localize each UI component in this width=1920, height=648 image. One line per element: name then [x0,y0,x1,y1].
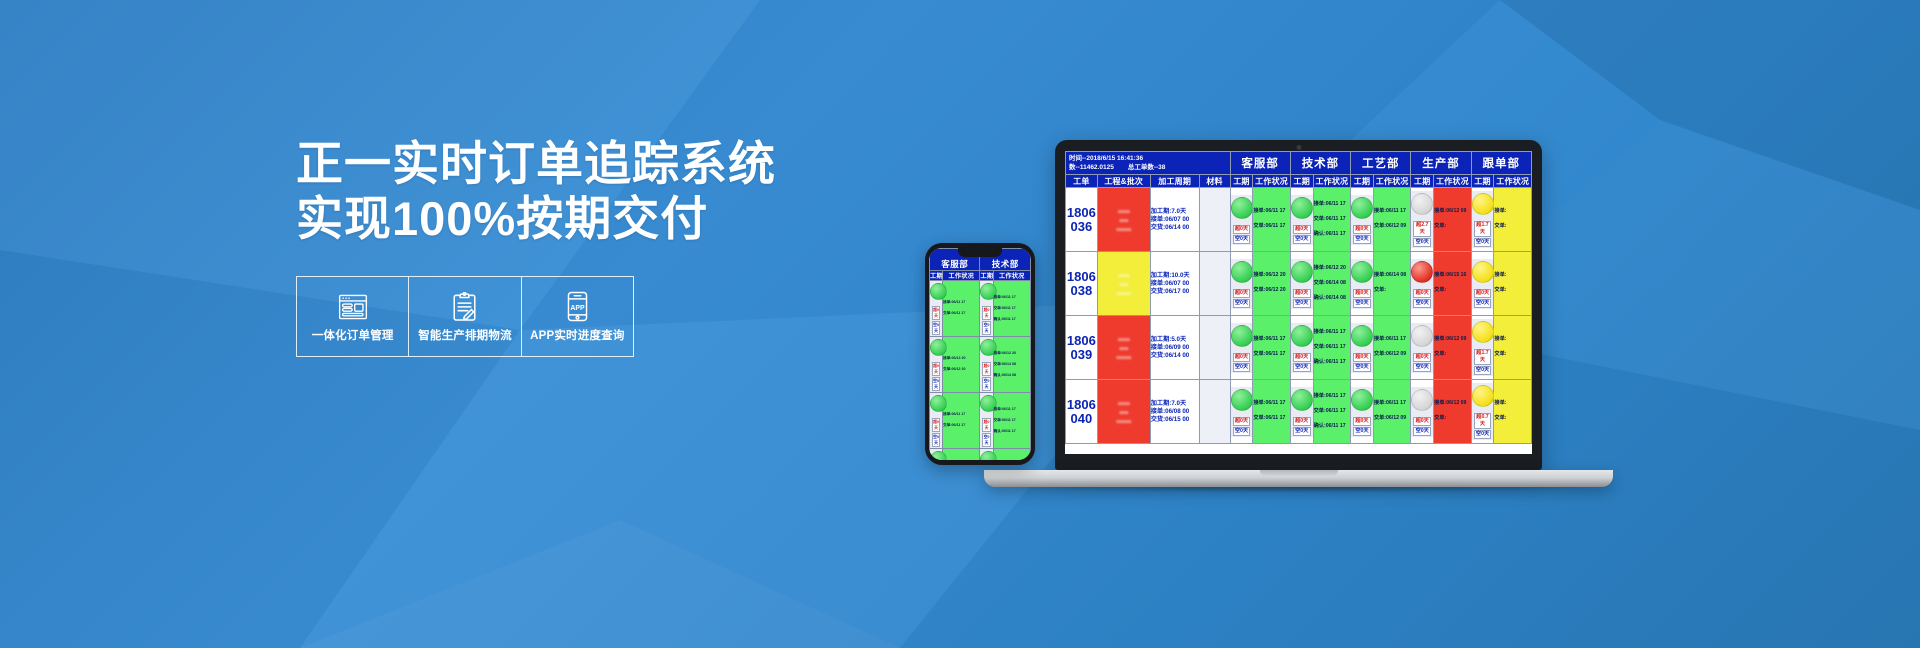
dept-status-cell-4[interactable]: 接单:交单: [1494,252,1532,316]
mobile-subheader-row: 工期工作状况工期工作状况 [930,271,1031,281]
idle-days-tag: 空0天 [1233,299,1251,308]
mobile-order-tracking-dashboard: 客服部技术部工期工作状况工期工作状况 超0天空0天接单:06/11 17交单:0… [929,248,1031,460]
laptop-mockup: 时间--2018/6/15 16:41:36数--11462.0125总工单数-… [1055,140,1613,493]
laptop-screen[interactable]: 时间--2018/6/15 16:41:36数--11462.0125总工单数-… [1065,151,1532,454]
dashboard-total: 总工单数--38 [1128,163,1166,172]
cycle-cell: 加工期:7.0天接单:06/07 00交货:06/14 00 [1150,188,1199,252]
cycle-duration: 加工期:5.0天 [1151,336,1199,344]
status-delivered: 交单:06/11 17 [1253,351,1289,359]
dept-status-cell-2[interactable]: 接单:06/11 17交单:06/12 09 [1373,316,1410,380]
mobile-duration-cell-0[interactable]: 超0天空0天 [930,281,943,337]
material-cell [1199,188,1230,252]
work-order-top: 1806 [1067,205,1096,220]
project-batch-cell: ■■■■■■■■■■■■ [1097,188,1150,252]
dept-duration-cell-0[interactable]: 超0天空0天 [1230,252,1253,316]
dashboard-time: 时间--2018/6/15 16:41:36 [1069,154,1227,163]
table-row[interactable]: 1806038■■■■■■■■■■■■加工期:10.0天接单:06/07 00交… [1066,252,1532,316]
status-delivered: 交单:06/12 09 [1374,351,1410,359]
status-lamp-green [1351,325,1373,347]
dept-duration-cell-1[interactable]: 超0天空0天 [1290,188,1313,252]
status-delivered: 交单: [1494,415,1531,423]
status-lamp-red [1411,261,1433,283]
status-received: 接单:06/11 17 [994,407,1030,413]
status-received: 接单: [1494,208,1531,216]
project-batch-cell: ■■■■■■■■■■■■ [1097,380,1150,444]
dept-duration-cell-4[interactable]: 超0.7天空0天 [1471,380,1494,444]
mobile-status-cell-0[interactable]: 接单:06/12 20交单:06/12 20 [943,337,980,393]
mobile-status-cell-0[interactable]: 接单:06/11 17交单:06/11 17 [943,393,980,449]
feature-label: 一体化订单管理 [312,327,394,343]
mobile-col-header-1-0: 工期 [980,271,993,281]
mobile-duration-cell-1[interactable]: 超0天空0天 [980,393,993,449]
over-days-tag: 超0天 [932,306,940,320]
status-delivered: 交单: [1434,223,1470,231]
status-confirmed: 确认:06/14 08 [1314,295,1350,303]
col-header-2: 加工周期 [1150,175,1199,188]
mobile-dashboard-body: 超0天空0天接单:06/11 17交单:06/11 17超0天空0天接单:06/… [930,281,1031,461]
status-lamp-green [1291,389,1313,411]
project-batch-cell: ■■■■■■■■■■■■ [1097,252,1150,316]
work-order-cell: 1806038 [1066,252,1098,316]
mobile-dashboard-table: 客服部技术部工期工作状况工期工作状况 超0天空0天接单:06/11 17交单:0… [929,248,1031,460]
mobile-table-row[interactable]: 超0天空0天接单:06/12 20交单:06/12 20超0天空0天接单:06/… [930,337,1031,393]
mobile-duration-cell-0[interactable]: 超0天空0天 [930,393,943,449]
dept-status-cell-0[interactable]: 接单:06/11 17交单:06/11 17 [1253,188,1290,252]
status-lamp-gray [1411,389,1433,411]
status-confirmed: 确认:06/11 17 [1314,423,1350,431]
status-lamp-green [1231,325,1253,347]
idle-days-tag: 空0天 [1233,363,1251,372]
dept-duration-cell-2[interactable]: 超0天空0天 [1351,252,1374,316]
idle-days-tag: 空0天 [1413,299,1431,308]
status-received: 接单:06/11 17 [1314,329,1350,337]
dept-duration-cell-3[interactable]: 超0天空0天 [1411,316,1434,380]
phone-mockup: 客服部技术部工期工作状况工期工作状况 超0天空0天接单:06/11 17交单:0… [925,243,1035,465]
dept-status-cell-1[interactable]: 接单:06/11 17交单:06/11 17确认:06/11 17 [1313,316,1350,380]
work-order-bottom: 039 [1071,347,1093,362]
dept-duration-cell-2[interactable]: 超0天空0天 [1351,380,1374,444]
idle-days-tag: 空0天 [1353,235,1371,244]
idle-days-tag: 空0天 [1353,299,1371,308]
idle-days-tag: 空0天 [982,321,990,335]
dept-duration-cell-0[interactable]: 超0天空0天 [1230,380,1253,444]
dept-status-cell-1[interactable]: 接单:06/12 20交单:06/14 08确认:06/14 08 [1313,252,1350,316]
dept-status-cell-3[interactable]: 接单:06/12 09交单: [1434,188,1471,252]
cycle-delivery: 交货:06/17 00 [1151,288,1199,296]
mobile-table-row[interactable]: 超0天空0天接单:06/11 17交单:06/11 17超0天空0天接单:06/… [930,393,1031,449]
phone-screen[interactable]: 客服部技术部工期工作状况工期工作状况 超0天空0天接单:06/11 17交单:0… [929,248,1031,460]
status-lamp-green [1231,261,1253,283]
over-days-tag: 超0天 [1233,353,1251,362]
over-days-tag: 超0天 [932,362,940,376]
dept-duration-cell-1[interactable]: 超0天空0天 [1290,316,1313,380]
over-days-tag: 超1.7天 [1474,221,1492,237]
col-header-0-0: 工期 [1230,175,1253,188]
over-days-tag: 超0天 [1233,417,1251,426]
dashboard-body: 1806036■■■■■■■■■■■■加工期:7.0天接单:06/07 00交货… [1066,188,1532,444]
status-lamp-green [930,395,947,412]
dept-status-cell-3[interactable]: 接单:06/12 09交单: [1434,380,1471,444]
idle-days-tag: 空0天 [1353,363,1371,372]
status-delivered: 交单:06/11 17 [994,306,1030,312]
mobile-duration-cell-1[interactable]: 超0天空0天 [980,281,993,337]
status-lamp-yellow [1472,193,1494,215]
mobile-duration-cell-0[interactable]: 超0天空0天 [930,337,943,393]
feature-list: 一体化订单管理 智能生产排期物流 [296,276,634,357]
status-confirmed: 确认:06/14 08 [994,373,1030,379]
mobile-duration-cell-1[interactable]: 超0天空4天 [980,449,993,461]
dept-status-cell-2[interactable]: 接单:06/11 17交单:06/12 09 [1373,188,1410,252]
dept-header-4: 跟单部 [1471,152,1531,175]
status-received: 接单:06/12 20 [943,356,979,362]
status-delivered: 交单:06/12 09 [1374,223,1410,231]
status-lamp-gray [1411,193,1433,215]
status-received: 接单:06/11 17 [1374,208,1410,216]
laptop-base [984,470,1613,487]
idle-days-tag: 空0天 [1474,430,1492,439]
status-received: 接单:06/11 17 [1253,336,1289,344]
status-received: 接单:06/11 17 [1253,208,1289,216]
status-received: 接单:06/12 09 [1434,208,1470,216]
material-cell [1199,316,1230,380]
idle-days-tag: 空0天 [1293,235,1311,244]
status-lamp-green [1351,389,1373,411]
cycle-duration: 加工期:10.0天 [1151,272,1199,280]
over-days-tag: 超0天 [1413,289,1431,298]
mobile-col-header-0-0: 工期 [930,271,943,281]
project-name-masked: ■■■■■■■■■■■■ [1098,396,1150,427]
col-header-2-1: 工作状况 [1373,175,1410,188]
status-delivered: 交单:06/11 17 [1314,408,1350,416]
cycle-delivery: 交货:06/15 00 [1151,416,1199,424]
cycle-cell: 加工期:5.0天接单:06/09 00交货:06/14 00 [1150,316,1199,380]
mobile-status-cell-1[interactable]: 接单:06/11 17交单:06/11 17确认:06/11 17 [993,449,1030,461]
work-order-top: 1806 [1067,269,1096,284]
status-received: 接单: [1494,336,1531,344]
mobile-table-row[interactable]: 超0天空0天接单:06/11 17交单:06/11 17超0天空4天接单:06/… [930,449,1031,461]
status-delivered: 交单:06/14 08 [1314,280,1350,288]
clipboard-pen-icon [451,292,478,322]
cycle-cell: 加工期:7.0天接单:06/08 00交货:06/15 00 [1150,380,1199,444]
status-delivered: 交单: [1494,287,1531,295]
status-delivered: 交单: [1434,351,1470,359]
status-received: 接单:06/11 17 [1314,201,1350,209]
col-header-3: 材料 [1199,175,1230,188]
cycle-received: 接单:06/07 00 [1151,280,1199,288]
col-header-1-1: 工作状况 [1313,175,1350,188]
headline-line-1: 正一实时订单追踪系统 [296,136,916,191]
status-received: 接单:06/11 17 [994,295,1030,301]
cycle-received: 接单:06/07 00 [1151,216,1199,224]
status-delivered: 交单:06/11 17 [1253,415,1289,423]
col-header-4-1: 工作状况 [1494,175,1532,188]
status-received: 接单: [1494,272,1531,280]
over-days-tag: 超0天 [982,306,990,320]
work-order-bottom: 040 [1071,411,1093,426]
dashboard-table: 时间--2018/6/15 16:41:36数--11462.0125总工单数-… [1065,151,1532,444]
app-badge-text: APP [570,305,585,312]
feature-item-production-scheduling[interactable]: 智能生产排期物流 [409,277,521,356]
dept-duration-cell-2[interactable]: 超0天空0天 [1351,316,1374,380]
feature-item-app-progress-query[interactable]: APP APP实时进度查询 [522,277,633,356]
status-delivered: 交单: [1434,415,1470,423]
status-delivered: 交单:06/11 17 [1314,344,1350,352]
project-batch-cell: ■■■■■■■■■■■■ [1097,316,1150,380]
phone-app-icon: APP [567,292,588,322]
dept-duration-cell-3[interactable]: 超0天空0天 [1411,252,1434,316]
mobile-table-row[interactable]: 超0天空0天接单:06/11 17交单:06/11 17超0天空0天接单:06/… [930,281,1031,337]
dept-header-1: 技术部 [1290,152,1350,175]
mobile-status-cell-1[interactable]: 接单:06/11 17交单:06/11 17确认:06/11 17 [993,393,1030,449]
work-order-top: 1806 [1067,397,1096,412]
work-order-cell: 1806040 [1066,380,1098,444]
cycle-received: 接单:06/09 00 [1151,344,1199,352]
cycle-duration: 加工期:7.0天 [1151,400,1199,408]
dept-status-cell-4[interactable]: 接单:交单: [1494,188,1532,252]
col-header-2-0: 工期 [1351,175,1374,188]
status-lamp-green [1231,197,1253,219]
status-delivered: 交单:06/11 17 [943,311,979,317]
status-lamp-green [1351,261,1373,283]
status-confirmed: 确认:06/11 17 [1314,359,1350,367]
status-delivered: 交单: [1434,287,1470,295]
project-name-masked: ■■■■■■■■■■■■ [1098,332,1150,363]
over-days-tag: 超0天 [1293,353,1311,362]
status-received: 接单:06/12 20 [994,351,1030,357]
over-days-tag: 超0.7天 [1474,413,1492,429]
status-received: 接单:06/11 17 [1253,400,1289,408]
idle-days-tag: 空0天 [1474,238,1492,247]
status-lamp-green [1351,197,1373,219]
work-order-cell: 1806039 [1066,316,1098,380]
status-lamp-green [1291,325,1313,347]
phone-notch [958,248,1002,257]
idle-days-tag: 空0天 [1474,299,1492,308]
over-days-tag: 超0天 [1413,353,1431,362]
dept-duration-cell-4[interactable]: 超1.7天空0天 [1471,316,1494,380]
idle-days-tag: 空0天 [1474,366,1492,375]
cycle-cell: 加工期:10.0天接单:06/07 00交货:06/17 00 [1150,252,1199,316]
status-received: 接单: [1494,400,1531,408]
col-header-1: 工程&批次 [1097,175,1150,188]
idle-days-tag: 空0天 [982,433,990,447]
col-header-4-0: 工期 [1471,175,1494,188]
status-confirmed: 确认:06/11 17 [1314,231,1350,239]
status-delivered: 交单:06/11 17 [1253,223,1289,231]
status-received: 接单:06/11 17 [1374,336,1410,344]
idle-days-tag: 空0天 [1233,427,1251,436]
mobile-duration-cell-1[interactable]: 超0天空0天 [980,337,993,393]
mobile-duration-cell-0[interactable]: 超0天空0天 [930,449,943,461]
idle-days-tag: 空0天 [1233,235,1251,244]
status-received: 接单:06/11 17 [1374,400,1410,408]
status-received: 接单:06/11 17 [943,300,979,306]
idle-days-tag: 空0天 [1413,238,1431,247]
over-days-tag: 超2.7天 [1413,221,1431,237]
dept-duration-cell-3[interactable]: 超0天空0天 [1411,380,1434,444]
status-received: 接单:06/12 20 [1314,265,1350,273]
dashboard-meta-cell: 时间--2018/6/15 16:41:36数--11462.0125总工单数-… [1066,152,1231,175]
status-delivered: 交单:06/11 17 [994,418,1030,424]
status-delivered: 交单:06/12 20 [1253,287,1289,295]
idle-days-tag: 空0天 [1353,427,1371,436]
dashboard-header: 时间--2018/6/15 16:41:36数--11462.0125总工单数-… [1066,152,1532,188]
dept-status-cell-4[interactable]: 接单:交单: [1494,316,1532,380]
table-row[interactable]: 1806036■■■■■■■■■■■■加工期:7.0天接单:06/07 00交货… [1066,188,1532,252]
status-delivered: 交单:06/12 20 [943,367,979,373]
mobile-col-header-1-1: 工作状况 [993,271,1030,281]
dept-status-cell-3[interactable]: 接单:06/12 09交单: [1434,316,1471,380]
status-lamp-green [1231,389,1253,411]
dept-duration-cell-0[interactable]: 超0天空0天 [1230,316,1253,380]
status-received: 接单:06/14 08 [1374,272,1410,280]
over-days-tag: 超0天 [1353,225,1371,234]
status-received: 接单:06/12 09 [1434,400,1470,408]
dept-status-cell-2[interactable]: 接单:06/14 08交单: [1373,252,1410,316]
idle-days-tag: 空0天 [1413,363,1431,372]
col-header-3-0: 工期 [1411,175,1434,188]
feature-label: 智能生产排期物流 [418,327,512,343]
idle-days-tag: 空0天 [1413,427,1431,436]
material-cell [1199,380,1230,444]
over-days-tag: 超0天 [1413,417,1431,426]
status-lamp-green [930,283,947,300]
dept-duration-cell-2[interactable]: 超0天空0天 [1351,188,1374,252]
status-delivered: 交单:06/11 17 [1314,216,1350,224]
status-lamp-yellow [1472,321,1494,343]
window-layout-icon [338,292,368,322]
dept-header-0: 客服部 [1230,152,1290,175]
over-days-tag: 超0天 [1353,417,1371,426]
cycle-received: 接单:06/08 00 [1151,408,1199,416]
dept-header-3: 生产部 [1411,152,1471,175]
status-lamp-yellow [1472,261,1494,283]
col-header-1-0: 工期 [1290,175,1313,188]
over-days-tag: 超0天 [982,418,990,432]
dept-duration-cell-4[interactable]: 超0天空0天 [1471,252,1494,316]
phone-body: 客服部技术部工期工作状况工期工作状况 超0天空0天接单:06/11 17交单:0… [925,243,1035,465]
dept-status-cell-0[interactable]: 接单:06/11 17交单:06/11 17 [1253,380,1290,444]
dept-duration-cell-0[interactable]: 超0天空0天 [1230,188,1253,252]
dashboard-meta-row: 时间--2018/6/15 16:41:36数--11462.0125总工单数-… [1066,152,1532,175]
mobile-status-cell-0[interactable]: 接单:06/11 17交单:06/11 17 [943,449,980,461]
over-days-tag: 超0天 [1293,225,1311,234]
mobile-status-cell-1[interactable]: 接单:06/12 20交单:06/14 08确认:06/14 08 [993,337,1030,393]
over-days-tag: 超1.7天 [1474,349,1492,365]
over-days-tag: 超0天 [1353,353,1371,362]
over-days-tag: 超0天 [1293,417,1311,426]
dept-duration-cell-1[interactable]: 超0天空0天 [1290,252,1313,316]
dept-status-cell-0[interactable]: 接单:06/12 20交单:06/12 20 [1253,252,1290,316]
col-header-3-1: 工作状况 [1434,175,1471,188]
over-days-tag: 超0天 [1233,225,1251,234]
status-received: 接单:06/12 20 [1253,272,1289,280]
over-days-tag: 超0天 [932,418,940,432]
over-days-tag: 超0天 [1293,289,1311,298]
status-received: 接单:06/11 17 [1314,393,1350,401]
feature-item-order-management[interactable]: 一体化订单管理 [297,277,409,356]
cycle-delivery: 交货:06/14 00 [1151,352,1199,360]
status-received: 接单:06/15 16 [1434,272,1470,280]
col-header-0: 工单 [1066,175,1098,188]
dept-status-cell-4[interactable]: 接单:交单: [1494,380,1532,444]
headline-line-2: 实现100%按期交付 [296,191,916,246]
material-cell [1199,252,1230,316]
over-days-tag: 超0天 [1474,289,1492,298]
dept-status-cell-0[interactable]: 接单:06/11 17交单:06/11 17 [1253,316,1290,380]
mobile-status-cell-0[interactable]: 接单:06/11 17交单:06/11 17 [943,281,980,337]
project-name-masked: ■■■■■■■■■■■■ [1098,204,1150,235]
idle-days-tag: 空0天 [1293,427,1311,436]
status-delivered: 交单:06/11 17 [943,423,979,429]
project-name-masked: ■■■■■■■■■■■■ [1098,268,1150,299]
status-confirmed: 确认:06/11 17 [994,429,1030,435]
cycle-duration: 加工期:7.0天 [1151,208,1199,216]
status-delivered: 交单:06/12 09 [1374,415,1410,423]
status-lamp-green [930,339,947,356]
dept-status-cell-1[interactable]: 接单:06/11 17交单:06/11 17确认:06/11 17 [1313,188,1350,252]
dept-duration-cell-1[interactable]: 超0天空0天 [1290,380,1313,444]
dept-status-cell-3[interactable]: 接单:06/15 16交单: [1434,252,1471,316]
dept-status-cell-1[interactable]: 接单:06/11 17交单:06/11 17确认:06/11 17 [1313,380,1350,444]
status-received: 接单:06/11 17 [943,412,979,418]
status-confirmed: 确认:06/11 17 [994,317,1030,323]
idle-days-tag: 空0天 [932,433,940,447]
over-days-tag: 超0天 [1233,289,1251,298]
status-lamp-yellow [1472,385,1494,407]
over-days-tag: 超0天 [982,362,990,376]
status-delivered: 交单:06/14 08 [994,362,1030,368]
table-row[interactable]: 1806040■■■■■■■■■■■■加工期:7.0天接单:06/08 00交货… [1066,380,1532,444]
status-delivered: 交单: [1374,287,1410,295]
dashboard-count: 数--11462.0125 [1069,163,1114,172]
idle-days-tag: 空0天 [982,377,990,391]
status-delivered: 交单: [1494,223,1531,231]
work-order-cell: 1806036 [1066,188,1098,252]
order-tracking-dashboard: 时间--2018/6/15 16:41:36数--11462.0125总工单数-… [1065,151,1532,454]
idle-days-tag: 空0天 [1293,299,1311,308]
over-days-tag: 超0天 [1353,289,1371,298]
col-header-0-1: 工作状况 [1253,175,1290,188]
idle-days-tag: 空0天 [932,321,940,335]
dept-header-2: 工艺部 [1351,152,1411,175]
dashboard-subheader-row: 工单工程&批次加工周期材料工期工作状况工期工作状况工期工作状况工期工作状况工期工… [1066,175,1532,188]
mobile-col-header-0-1: 工作状况 [943,271,980,281]
status-lamp-gray [1411,325,1433,347]
work-order-bottom: 038 [1071,283,1093,298]
work-order-top: 1806 [1067,333,1096,348]
idle-days-tag: 空0天 [932,377,940,391]
laptop-lid: 时间--2018/6/15 16:41:36数--11462.0125总工单数-… [1055,140,1542,470]
cycle-delivery: 交货:06/14 00 [1151,224,1199,232]
status-delivered: 交单: [1494,351,1531,359]
status-lamp-green [1291,261,1313,283]
work-order-bottom: 036 [1071,219,1093,234]
status-received: 接单:06/12 09 [1434,336,1470,344]
status-lamp-green [1291,197,1313,219]
dept-duration-cell-3[interactable]: 超2.7天空0天 [1411,188,1434,252]
hero-copy: 正一实时订单追踪系统 实现100%按期交付 一体化订单管理 [296,136,916,357]
feature-label: APP实时进度查询 [530,327,624,343]
dept-duration-cell-4[interactable]: 超1.7天空0天 [1471,188,1494,252]
dept-status-cell-2[interactable]: 接单:06/11 17交单:06/12 09 [1373,380,1410,444]
laptop-shadow [984,487,1613,493]
mobile-status-cell-1[interactable]: 接单:06/11 17交单:06/11 17确认:06/11 17 [993,281,1030,337]
idle-days-tag: 空0天 [1293,363,1311,372]
table-row[interactable]: 1806039■■■■■■■■■■■■加工期:5.0天接单:06/09 00交货… [1066,316,1532,380]
